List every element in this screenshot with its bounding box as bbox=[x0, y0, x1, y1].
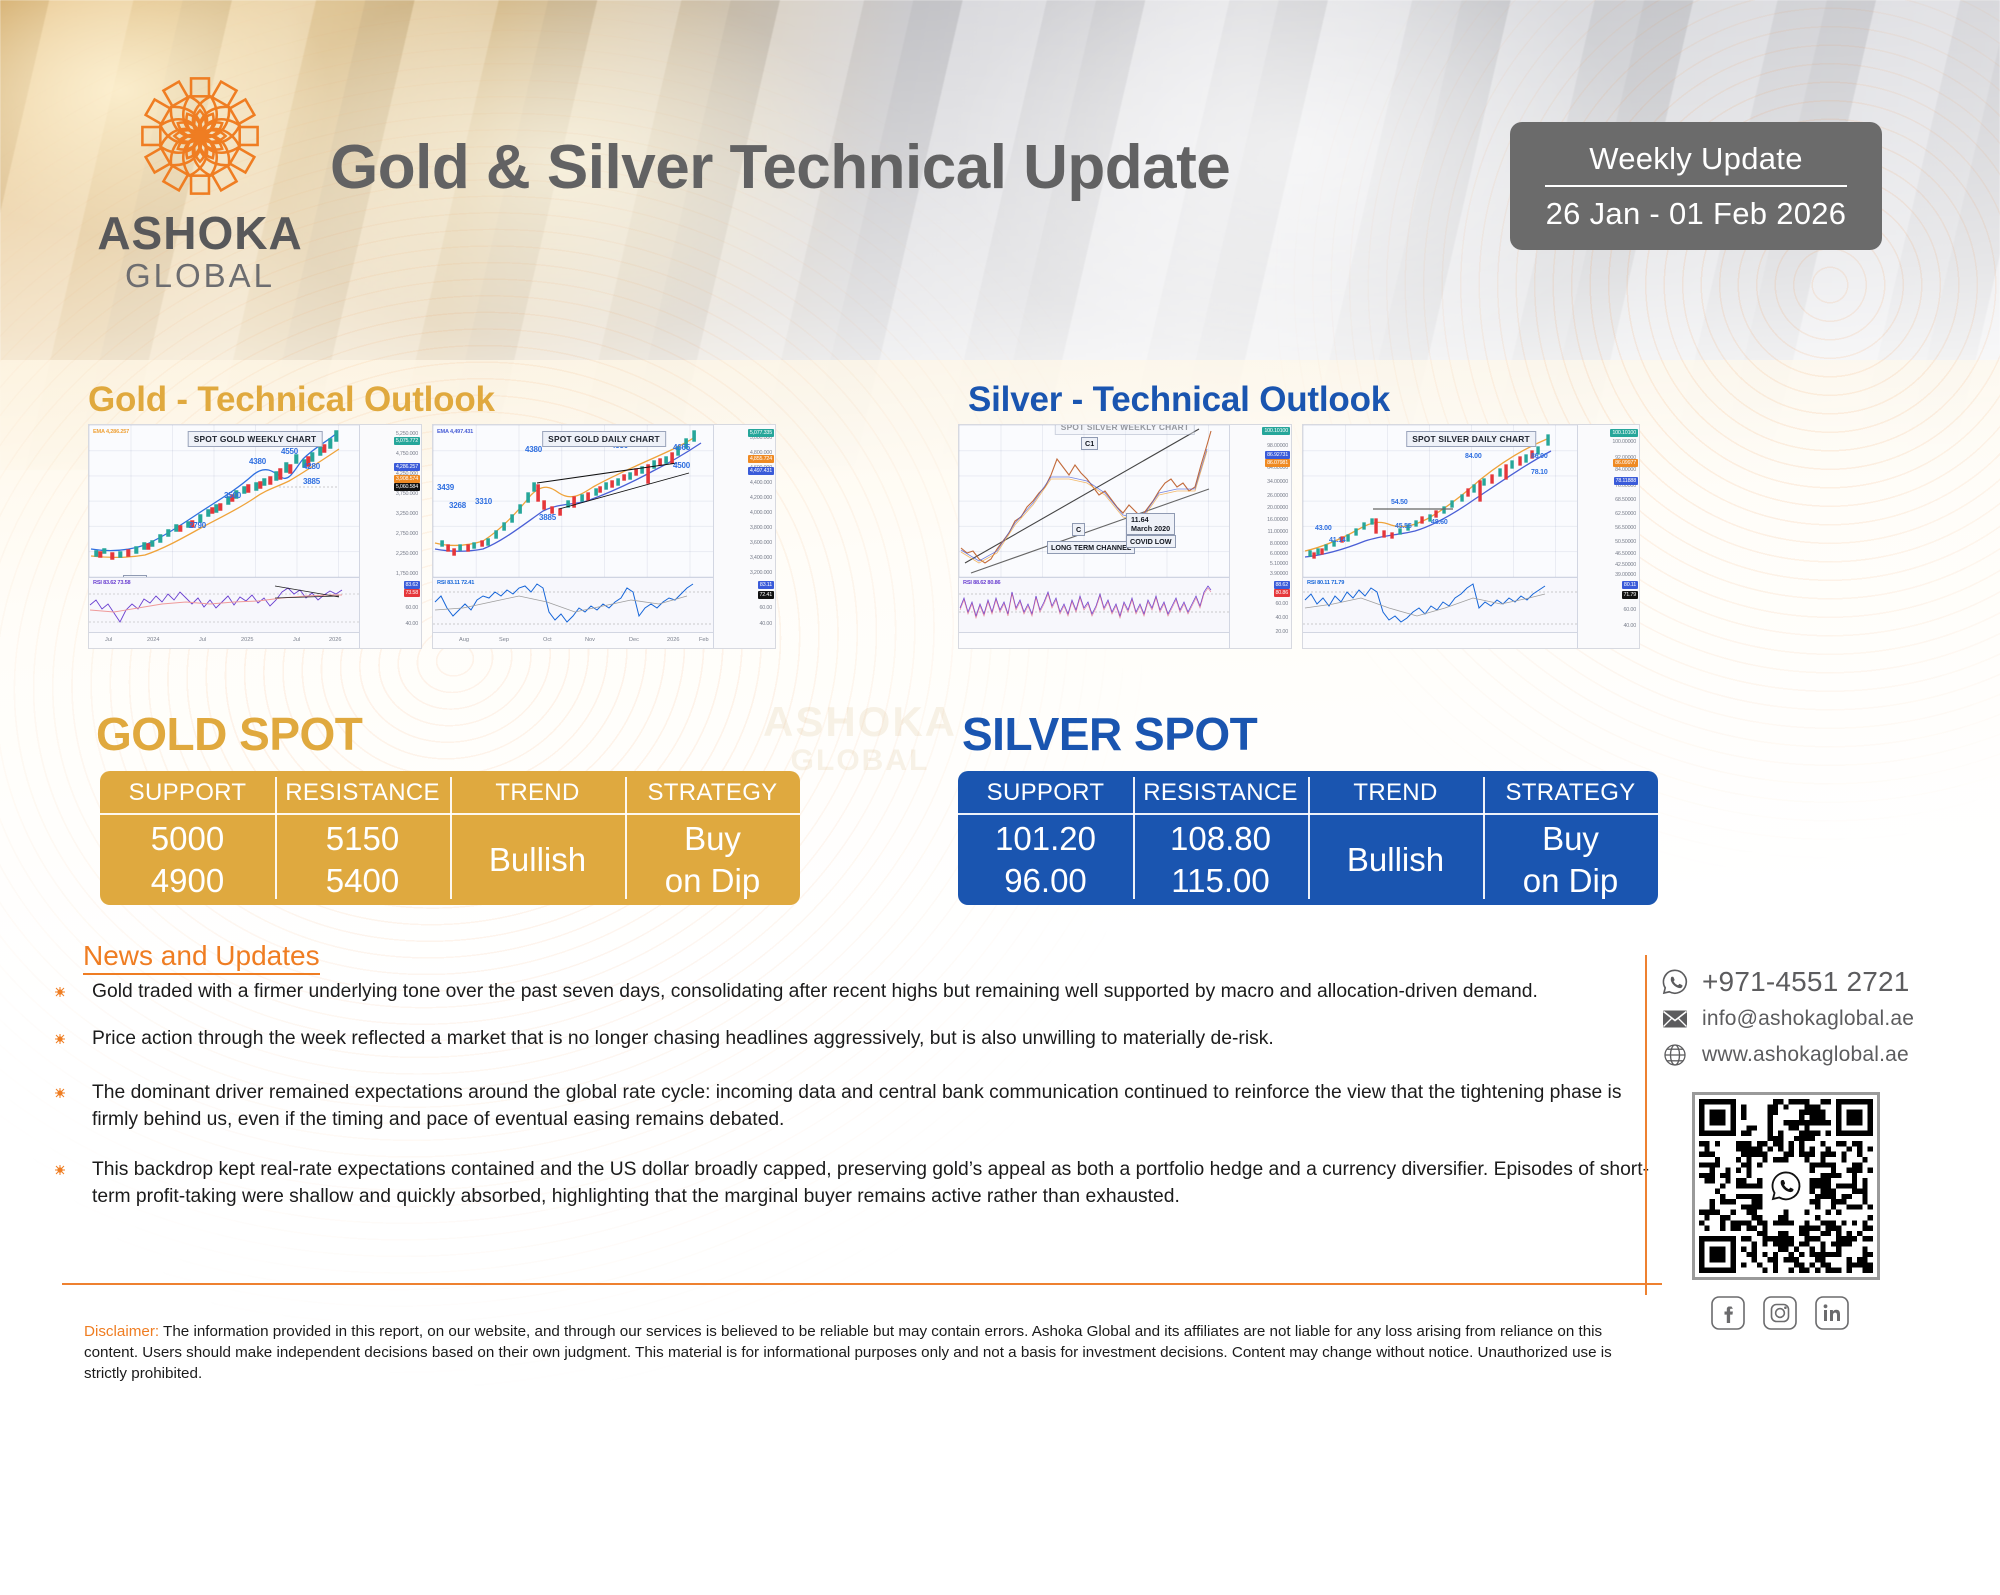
axis-tick: 16.00000 bbox=[1267, 517, 1288, 523]
email-address: info@ashokaglobal.ae bbox=[1702, 1007, 1914, 1031]
rsi-axis-tick: 20.00 bbox=[1276, 629, 1289, 635]
axis-tick: 3,250.000 bbox=[396, 511, 418, 517]
axis-tick: 3,750.000 bbox=[396, 491, 418, 497]
column-header: TREND bbox=[1308, 771, 1483, 815]
news-divider bbox=[62, 1283, 1662, 1285]
time-tick: 2024 bbox=[147, 637, 159, 643]
rsi-axis-tick: 60.00 bbox=[760, 605, 773, 611]
silver-outlook-title: Silver - Technical Outlook bbox=[968, 380, 1390, 420]
globe-icon bbox=[1660, 1040, 1690, 1070]
rsi-header: RSI 83.62 73.58 bbox=[93, 580, 130, 586]
annotation-4280: 4280 bbox=[303, 462, 320, 471]
annotation-86-00: 86.00 bbox=[1531, 453, 1548, 460]
axis-tick: 39.00000 bbox=[1615, 572, 1636, 578]
covid-low-date: March 2020 bbox=[1131, 524, 1170, 533]
rsi-tag: 73.58 bbox=[404, 589, 421, 597]
axis-tick: 20.00000 bbox=[1267, 505, 1288, 511]
time-tick: Oct bbox=[543, 637, 552, 643]
price-tag-ma: 86.09977 bbox=[1613, 459, 1638, 467]
annotation-3310: 3310 bbox=[475, 497, 492, 506]
silver-trend-column: TREND Bullish bbox=[1308, 771, 1483, 905]
price-tag-ema: 4,497.431 bbox=[748, 467, 774, 475]
axis-tick: 100.00000 bbox=[1612, 439, 1636, 445]
time-axis bbox=[959, 632, 1229, 648]
price-tag-last: 100.10100 bbox=[1610, 429, 1638, 437]
annotation-41-14: 41.14 bbox=[1329, 537, 1346, 544]
axis-tick: 4,400.000 bbox=[750, 480, 772, 486]
annotation-4380: 4380 bbox=[525, 445, 542, 454]
silver-spot-table: SUPPORT 101.20 96.00 RESISTANCE 108.80 1… bbox=[958, 771, 1658, 905]
axis-tick: 4,000.000 bbox=[750, 510, 772, 516]
rsi-tag: 80.86 bbox=[1274, 589, 1291, 597]
annotation-c: C bbox=[1072, 523, 1085, 536]
whatsapp-icon bbox=[1660, 967, 1690, 997]
gold-resistance-column: RESISTANCE 5150 5400 bbox=[275, 771, 450, 905]
gold-strategy-value: Buy on Dip bbox=[625, 815, 800, 905]
instagram-icon[interactable] bbox=[1762, 1295, 1798, 1331]
annotation-c1: C1 bbox=[1081, 437, 1098, 450]
time-tick: Nov bbox=[585, 637, 595, 643]
disclaimer-text: The information provided in this report,… bbox=[84, 1323, 1612, 1382]
annotation-3268: 3268 bbox=[449, 501, 466, 510]
rsi-tag: 88.62 bbox=[1274, 581, 1291, 589]
annotation-45-55: 45.55 bbox=[1395, 523, 1412, 530]
axis-tick: 34.00000 bbox=[1267, 479, 1288, 485]
weekly-update-badge: Weekly Update 26 Jan - 01 Feb 2026 bbox=[1510, 122, 1882, 250]
brand-logo: ASHOKA GLOBAL bbox=[95, 72, 305, 296]
bullet-icon bbox=[55, 1034, 65, 1044]
price-axis: 98.00000 64.00000 34.00000 26.00000 20.0… bbox=[1229, 425, 1291, 648]
axis-tick: 56.50000 bbox=[1615, 525, 1636, 531]
silver-weekly-rsi-series bbox=[959, 578, 1231, 633]
price-tag-ma: 4,855.724 bbox=[748, 455, 774, 463]
axis-tick: 3,400.000 bbox=[750, 555, 772, 561]
contact-divider bbox=[1645, 955, 1647, 1295]
brand-name-secondary: GLOBAL bbox=[95, 256, 305, 296]
bullet-icon bbox=[55, 987, 65, 997]
price-tag-ema: 78.11888 bbox=[1614, 477, 1638, 485]
chart-spot-silver-weekly[interactable]: SPOT SILVER WEEKLY CHART C1 C LONG TERM … bbox=[958, 424, 1292, 649]
column-header: STRATEGY bbox=[1483, 771, 1658, 815]
column-header: RESISTANCE bbox=[275, 771, 450, 815]
axis-tick: 42.50000 bbox=[1615, 562, 1636, 568]
time-tick: Jul bbox=[199, 637, 206, 643]
axis-tick: 84.00000 bbox=[1615, 467, 1636, 473]
silver-resistance-column: RESISTANCE 108.80 115.00 bbox=[1133, 771, 1308, 905]
time-tick: Dec bbox=[629, 637, 639, 643]
annotation-84-00: 84.00 bbox=[1465, 453, 1482, 460]
rsi-tag: 83.11 bbox=[758, 581, 774, 589]
rsi-axis-tick: 40.00 bbox=[760, 621, 773, 627]
value: 5400 bbox=[326, 860, 399, 902]
time-tick: Feb bbox=[699, 637, 709, 643]
price-tag-last: 5,077.335 bbox=[748, 429, 774, 437]
column-header: RESISTANCE bbox=[1133, 771, 1308, 815]
annotation-4665: 4665 bbox=[673, 443, 690, 452]
gold-outlook-title: Gold - Technical Outlook bbox=[88, 380, 495, 420]
contact-website-row[interactable]: www.ashokaglobal.ae bbox=[1660, 1040, 1990, 1070]
news-text: Gold traded with a firmer underlying ton… bbox=[92, 978, 1655, 1005]
value: Buy bbox=[1542, 818, 1599, 860]
axis-tick: 11.00000 bbox=[1268, 529, 1288, 535]
annotation-4550: 4550 bbox=[281, 447, 298, 456]
gold-support-values: 5000 4900 bbox=[100, 815, 275, 905]
silver-strategy-column: STRATEGY Buy on Dip bbox=[1483, 771, 1658, 905]
value: on Dip bbox=[665, 860, 760, 902]
time-axis bbox=[1303, 632, 1577, 648]
rsi-header: RSI 88.62 80.86 bbox=[963, 580, 1000, 586]
annotation-3500: 3500 bbox=[224, 491, 241, 500]
badge-date-range: 26 Jan - 01 Feb 2026 bbox=[1546, 187, 1847, 232]
news-list: Gold traded with a firmer underlying ton… bbox=[55, 978, 1655, 1230]
disclaimer-label: Disclaimer: bbox=[84, 1323, 159, 1340]
silver-support-values: 101.20 96.00 bbox=[958, 815, 1133, 905]
chart-title: SPOT SILVER WEEKLY CHART bbox=[1055, 424, 1195, 435]
silver-support-column: SUPPORT 101.20 96.00 bbox=[958, 771, 1133, 905]
rsi-axis-tick: 60.00 bbox=[1624, 607, 1637, 613]
bullet-icon bbox=[55, 1165, 65, 1175]
rsi-tag: 80.11 bbox=[1622, 581, 1638, 589]
annotation-4380: 4380 bbox=[249, 457, 266, 466]
price-tag-ma: 86.07981 bbox=[1265, 459, 1290, 467]
axis-tick: 4,200.000 bbox=[750, 495, 772, 501]
time-axis: Jul 2024 Jul 2025 Jul 2026 bbox=[89, 632, 359, 648]
chart-title: SPOT SILVER DAILY CHART bbox=[1406, 431, 1536, 447]
news-item: Gold traded with a firmer underlying ton… bbox=[55, 978, 1655, 1005]
silver-resistance-values: 108.80 115.00 bbox=[1133, 815, 1308, 905]
page-title: Gold & Silver Technical Update bbox=[330, 132, 1410, 203]
website-url: www.ashokaglobal.ae bbox=[1702, 1043, 1909, 1067]
annotation-48-60: 48.60 bbox=[1431, 519, 1448, 526]
news-heading: News and Updates bbox=[83, 940, 320, 975]
gold-trend-column: TREND Bullish bbox=[450, 771, 625, 905]
axis-tick: 3,600.000 bbox=[750, 540, 772, 546]
whatsapp-qr-logo bbox=[1765, 1165, 1807, 1207]
value: 115.00 bbox=[1171, 860, 1269, 902]
linkedin-icon[interactable] bbox=[1814, 1295, 1850, 1331]
gold-spot-table: SUPPORT 5000 4900 RESISTANCE 5150 5400 T… bbox=[100, 771, 800, 905]
envelope-icon bbox=[1660, 1004, 1690, 1034]
time-tick: Aug bbox=[459, 637, 469, 643]
annotation-covid-low: COVID LOW bbox=[1126, 535, 1176, 548]
chart-spot-gold-weekly[interactable]: SPOT GOLD WEEKLY CHART EMA 4,286.257 438… bbox=[88, 424, 422, 649]
news-text: The dominant driver remained expectation… bbox=[92, 1079, 1655, 1134]
annotation-3885: 3885 bbox=[539, 513, 556, 522]
annotation-long-term-channel: LONG TERM CHANNEL bbox=[1047, 541, 1135, 554]
axis-tick: 1,750.000 bbox=[396, 571, 418, 577]
chart-title: SPOT GOLD DAILY CHART bbox=[542, 431, 666, 447]
social-links bbox=[1710, 1295, 1850, 1331]
column-header: SUPPORT bbox=[100, 771, 275, 815]
value: Buy bbox=[684, 818, 741, 860]
gold-weekly-price-series bbox=[89, 425, 361, 578]
report-page: ASHOKA GLOBAL Gold & Silver Technical Up… bbox=[0, 0, 2000, 1414]
time-tick: 2026 bbox=[329, 637, 341, 643]
gold-trend-value: Bullish bbox=[450, 815, 625, 905]
price-axis: 5,000.000 4,800.000 4,600.000 4,400.000 … bbox=[713, 425, 775, 648]
rsi-axis-tick: 40.00 bbox=[1624, 623, 1637, 629]
rsi-axis-tick: 40.00 bbox=[1276, 615, 1289, 621]
covid-low-value: 11.64 bbox=[1131, 515, 1149, 524]
price-axis: 100.00000 92.00000 84.00000 76.00000 68.… bbox=[1577, 425, 1639, 648]
chart-title: SPOT GOLD WEEKLY CHART bbox=[188, 431, 323, 447]
annotation-3439: 3439 bbox=[437, 483, 454, 492]
axis-tick: 98.00000 bbox=[1267, 443, 1288, 449]
price-tag-last: 5,075.772 bbox=[394, 437, 420, 445]
annotation-4500: 4500 bbox=[673, 461, 690, 470]
chart-header-ema: EMA 4,497.431 bbox=[437, 429, 473, 435]
rsi-axis-tick: 40.00 bbox=[406, 621, 419, 627]
annotation-54-50: 54.50 bbox=[1391, 499, 1408, 506]
contact-email-row[interactable]: info@ashokaglobal.ae bbox=[1660, 1004, 1990, 1034]
phone-number: +971-4551 2721 bbox=[1702, 966, 1910, 998]
price-tag-last: 100.10100 bbox=[1262, 427, 1290, 435]
rsi-header: RSI 80.11 71.79 bbox=[1307, 580, 1344, 586]
rsi-tag: 83.62 bbox=[404, 581, 421, 589]
time-tick: Jul bbox=[293, 637, 300, 643]
contact-phone-row[interactable]: +971-4551 2721 bbox=[1660, 966, 1990, 998]
axis-tick: 8.00000 bbox=[1270, 541, 1288, 547]
axis-tick: 3,800.000 bbox=[750, 525, 772, 531]
price-tag-ma: 3,908.574 bbox=[394, 475, 420, 483]
axis-tick: 26.00000 bbox=[1267, 493, 1288, 499]
time-tick: 2025 bbox=[241, 637, 253, 643]
column-header: SUPPORT bbox=[958, 771, 1133, 815]
annotation-78-10: 78.10 bbox=[1531, 469, 1548, 476]
axis-tick: 62.50000 bbox=[1615, 511, 1636, 517]
silver-daily-rsi-series bbox=[1303, 578, 1579, 633]
value: 5150 bbox=[326, 818, 399, 860]
contact-block: +971-4551 2721 info@ashokaglobal.ae bbox=[1660, 966, 1990, 1076]
price-tag-ema: 4,286.257 bbox=[394, 463, 420, 471]
rsi-axis-tick: 60.00 bbox=[406, 605, 419, 611]
time-tick: 2026 bbox=[667, 637, 679, 643]
price-axis: 5,250.000 4,750.000 4,250.000 3,750.000 … bbox=[359, 425, 421, 648]
brand-name-primary: ASHOKA bbox=[95, 210, 305, 256]
silver-spot-title: SILVER SPOT bbox=[962, 707, 1257, 761]
axis-tick: 4,750.000 bbox=[396, 451, 418, 457]
value: 101.20 bbox=[995, 818, 1096, 860]
axis-tick: 46.50000 bbox=[1615, 551, 1636, 557]
axis-tick: 3.90000 bbox=[1270, 571, 1288, 577]
silver-daily-price-series bbox=[1303, 425, 1579, 578]
rsi-tag: 72.41 bbox=[758, 591, 775, 599]
value: 5000 bbox=[151, 818, 224, 860]
gold-daily-rsi-series bbox=[433, 578, 715, 633]
silver-trend-value: Bullish bbox=[1308, 815, 1483, 905]
gold-support-column: SUPPORT 5000 4900 bbox=[100, 771, 275, 905]
value: 108.80 bbox=[1170, 818, 1271, 860]
badge-label: Weekly Update bbox=[1589, 141, 1803, 185]
gold-resistance-values: 5150 5400 bbox=[275, 815, 450, 905]
qr-code[interactable] bbox=[1692, 1092, 1880, 1280]
chart-header-ema: EMA 4,286.257 bbox=[93, 429, 129, 435]
time-tick: Jul bbox=[105, 637, 112, 643]
column-header: TREND bbox=[450, 771, 625, 815]
value: 96.00 bbox=[1004, 860, 1087, 902]
news-item: This backdrop kept real-rate expectation… bbox=[55, 1156, 1680, 1211]
rsi-tag: 71.79 bbox=[1622, 591, 1639, 599]
news-item: The dominant driver remained expectation… bbox=[55, 1079, 1655, 1134]
axis-tick: 3,200.000 bbox=[750, 570, 772, 576]
value: on Dip bbox=[1523, 860, 1618, 902]
gold-spot-title: GOLD SPOT bbox=[96, 707, 362, 761]
facebook-icon[interactable] bbox=[1710, 1295, 1746, 1331]
silver-strategy-value: Buy on Dip bbox=[1483, 815, 1658, 905]
news-item: Price action through the week reflected … bbox=[55, 1025, 1655, 1052]
disclaimer: Disclaimer: The information provided in … bbox=[84, 1322, 1654, 1385]
axis-tick: 6.00000 bbox=[1270, 551, 1288, 557]
annotation-2790: 2790 bbox=[189, 521, 206, 530]
time-tick: Sep bbox=[499, 637, 509, 643]
rsi-axis-tick: 60.00 bbox=[1276, 601, 1289, 607]
price-tag-ema: 86.92731 bbox=[1265, 451, 1290, 459]
bullet-icon bbox=[55, 1088, 65, 1098]
news-text: Price action through the week reflected … bbox=[92, 1025, 1655, 1052]
chart-spot-gold-daily[interactable]: SPOT GOLD DAILY CHART EMA 4,497.431 3439… bbox=[432, 424, 776, 649]
ashoka-mandala-icon bbox=[136, 72, 264, 200]
time-axis: Aug Sep Oct Nov Dec 2026 Feb bbox=[433, 632, 713, 648]
axis-tick: 68.50000 bbox=[1615, 497, 1636, 503]
axis-tick: 5.10000 bbox=[1270, 561, 1288, 567]
value: 4900 bbox=[151, 860, 224, 902]
gold-weekly-rsi-series bbox=[89, 578, 361, 633]
annotation-43-00: 43.00 bbox=[1315, 525, 1332, 532]
axis-tick: 50.50000 bbox=[1615, 539, 1636, 545]
annotation-covid-low-price: 11.64 March 2020 bbox=[1126, 513, 1175, 535]
column-header: STRATEGY bbox=[625, 771, 800, 815]
axis-tick: 2,250.000 bbox=[396, 551, 418, 557]
news-text: This backdrop kept real-rate expectation… bbox=[92, 1156, 1680, 1211]
gold-strategy-column: STRATEGY Buy on Dip bbox=[625, 771, 800, 905]
rsi-header: RSI 83.11 72.41 bbox=[437, 580, 474, 586]
axis-tick: 2,750.000 bbox=[396, 531, 418, 537]
chart-spot-silver-daily[interactable]: SPOT SILVER DAILY CHART 43.00 41.14 54.5… bbox=[1302, 424, 1640, 649]
price-tag-close: 5,060.584 bbox=[394, 483, 420, 491]
annotation-3885: 3885 bbox=[303, 477, 320, 486]
